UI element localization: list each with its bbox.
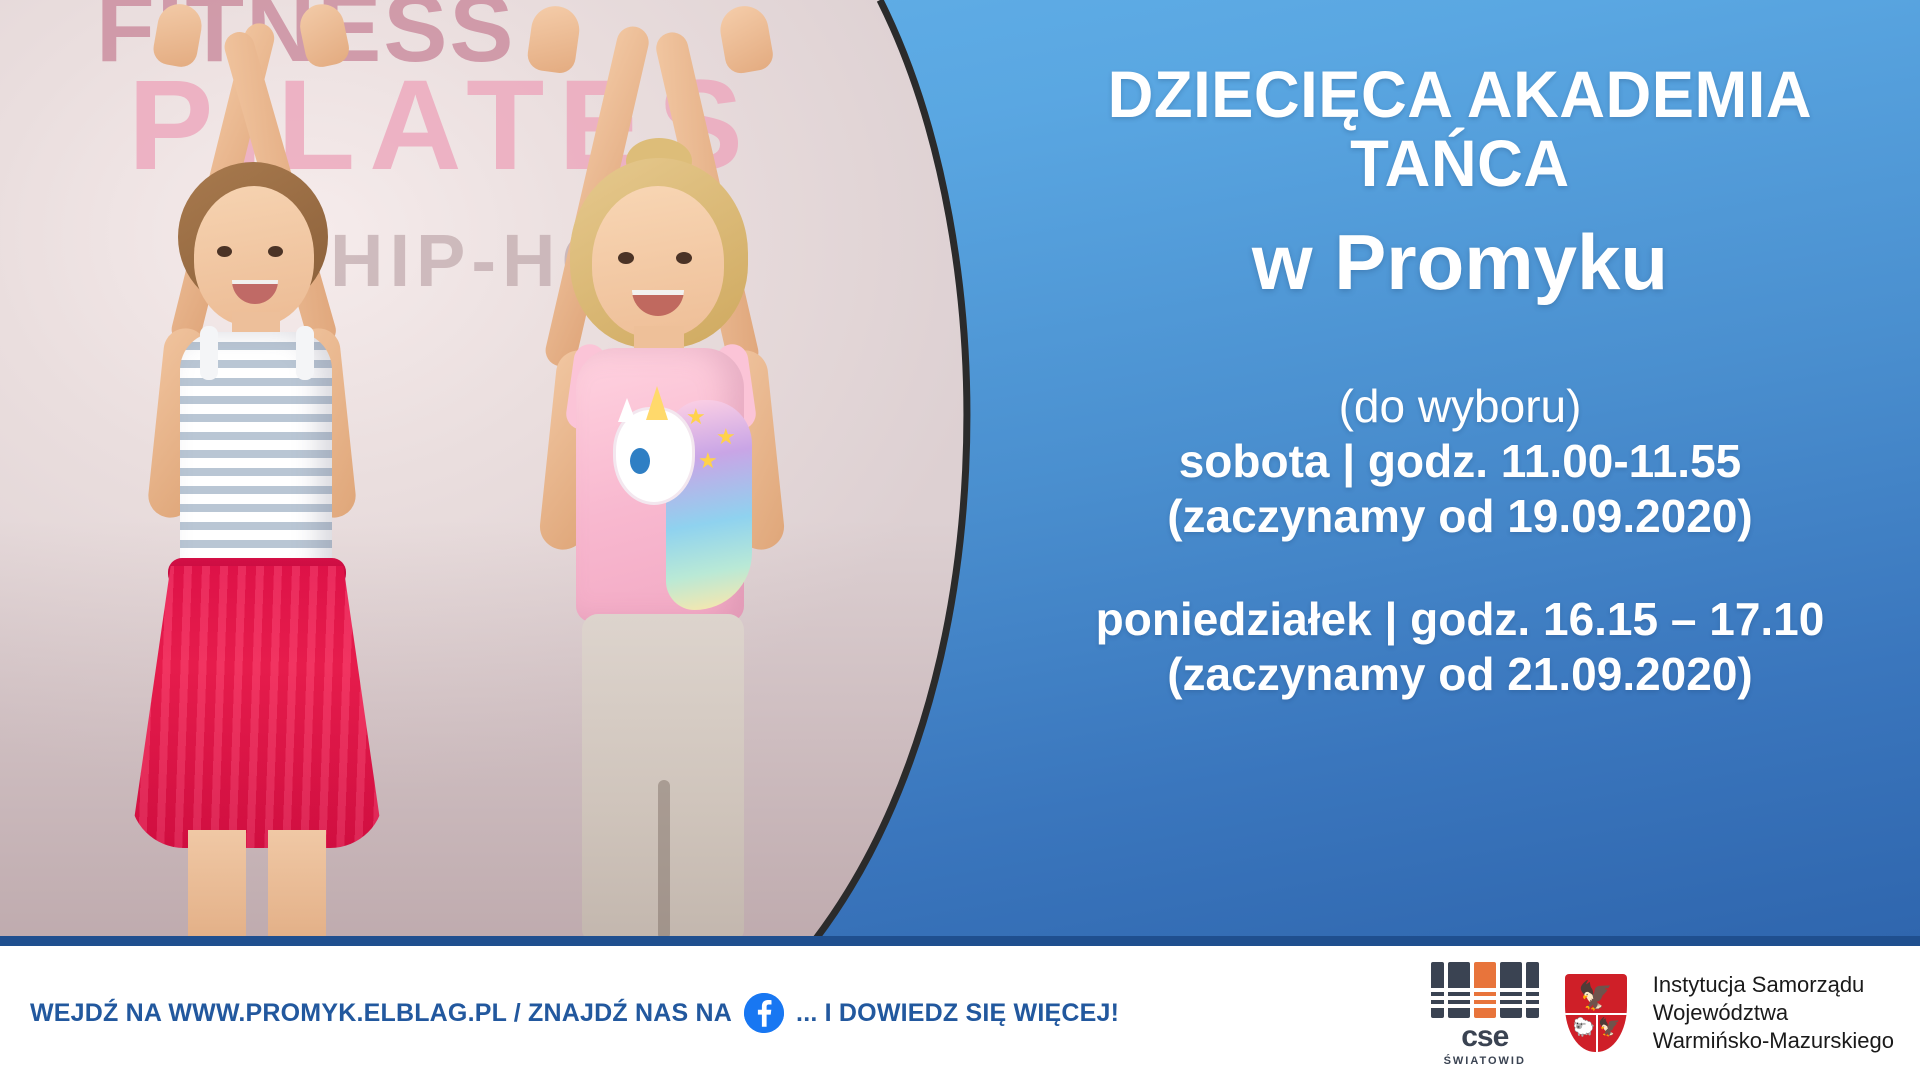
schedule-choose-label: (do wyboru) — [1000, 379, 1920, 433]
institution-line-3: Warmińsko-Mazurskiego — [1653, 1027, 1894, 1055]
cse-wordmark: cse — [1461, 1022, 1508, 1052]
footer-divider — [0, 936, 1920, 946]
cse-bar-3 — [1474, 962, 1496, 1018]
girl-right-hand-right — [717, 2, 776, 75]
facebook-icon[interactable] — [744, 993, 784, 1033]
girl-left-strap-left — [200, 326, 218, 380]
footer-bar: WEJDŹ NA WWW.PROMYK.ELBLAG.PL / ZNAJDŹ N… — [0, 946, 1920, 1080]
cse-bar-5 — [1526, 962, 1539, 1018]
subtitle: w Promyku — [1252, 223, 1668, 301]
girl-right-eye-left — [618, 252, 634, 264]
photo-area: FITNESS PILATES HIP-HOP — [0, 0, 1010, 940]
girl-left-leg-left — [188, 830, 246, 940]
girl-left-face — [194, 186, 314, 326]
girl-left-red-tutu — [130, 566, 384, 848]
girl-left-leg-right — [268, 830, 326, 940]
institution-line-2: Województwa — [1653, 999, 1894, 1027]
girl-right: ★ ★ ★ — [430, 0, 850, 940]
unicorn-ear-graphic — [618, 398, 636, 422]
schedule-option-1-daytime: sobota | godz. 11.00-11.55 — [1000, 434, 1920, 489]
cse-bar-4 — [1500, 962, 1522, 1018]
photo-clip: FITNESS PILATES HIP-HOP — [0, 0, 1010, 940]
institution-text: Instytucja Samorządu Województwa Warmińs… — [1653, 971, 1894, 1055]
headline-line-1: DZIECIĘCA AKADEMIA — [1108, 60, 1812, 129]
footer-cta-text-after: ... I DOWIEDZ SIĘ WIĘCEJ! — [796, 999, 1119, 1028]
cse-bar-2 — [1448, 962, 1470, 1018]
schedule-option-2-start: (zaczynamy od 21.09.2020) — [1000, 647, 1920, 702]
unicorn-head-graphic — [616, 410, 692, 502]
girl-left — [60, 10, 430, 940]
star-icon: ★ — [716, 424, 736, 450]
footer-cta: WEJDŹ NA WWW.PROMYK.ELBLAG.PL / ZNAJDŹ N… — [30, 993, 1119, 1033]
coa-lamb: 🐑 — [1573, 1018, 1595, 1036]
girl-left-eye-left — [217, 246, 232, 257]
promotional-poster: FITNESS PILATES HIP-HOP — [0, 0, 1920, 1080]
girl-left-hand-left — [151, 1, 205, 70]
coa-eagle-top: 🦅 — [1578, 982, 1613, 1010]
girl-right-leg-split — [658, 780, 670, 940]
page-title: DZIECIĘCA AKADEMIA TAŃCA — [1108, 60, 1812, 197]
footer-cta-text-before: WEJDŹ NA WWW.PROMYK.ELBLAG.PL / ZNAJDŹ N… — [30, 999, 732, 1028]
footer-logos: cse ŚWIATOWID 🦅 🐑 🦅 Instytucja Samorządu… — [1431, 960, 1894, 1067]
star-icon: ★ — [686, 404, 706, 430]
coa-eagle-small: 🦅 — [1598, 1018, 1620, 1036]
schedule-option-2-daytime: poniedziałek | godz. 16.15 – 17.10 — [1000, 592, 1920, 647]
schedule-block: (do wyboru) sobota | godz. 11.00-11.55 (… — [1000, 379, 1920, 702]
unicorn-horn-graphic — [646, 386, 668, 420]
institution-line-1: Instytucja Samorządu — [1653, 971, 1894, 999]
unicorn-eye-graphic — [630, 448, 650, 474]
girl-left-eye-right — [268, 246, 283, 257]
girl-left-strap-right — [296, 326, 314, 380]
cse-bar-1 — [1431, 962, 1444, 1018]
star-icon: ★ — [698, 448, 718, 474]
text-column: DZIECIĘCA AKADEMIA TAŃCA w Promyku (do w… — [1000, 0, 1920, 940]
cse-subtitle: ŚWIATOWID — [1444, 1056, 1526, 1067]
headline-line-2: TAŃCA — [1108, 129, 1812, 198]
warmia-masuria-coat-of-arms-icon: 🦅 🐑 🦅 — [1565, 974, 1627, 1052]
girl-left-hand-right — [296, 0, 352, 70]
girl-right-eye-right — [676, 252, 692, 264]
girl-right-hand-left — [526, 3, 583, 75]
schedule-option-1-start: (zaczynamy od 19.09.2020) — [1000, 489, 1920, 544]
cse-swiatowid-logo: cse ŚWIATOWID — [1431, 960, 1539, 1067]
cse-faces-mark — [1431, 960, 1539, 1018]
schedule-spacer — [1000, 544, 1920, 592]
